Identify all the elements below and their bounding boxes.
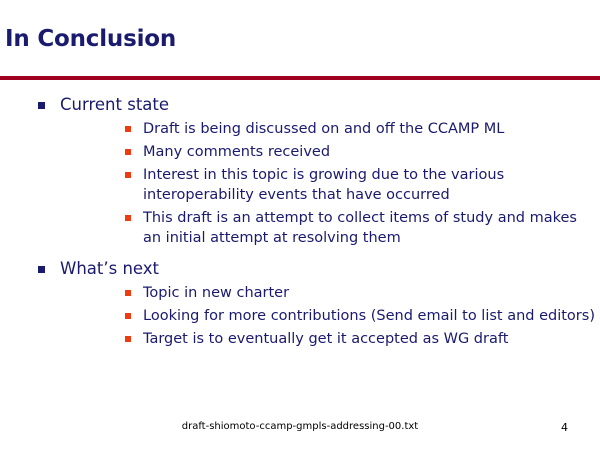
sub-bullet-label: Draft is being discussed on and off the …: [143, 119, 595, 139]
bullet-list-level1: Current state Draft is being discussed o…: [0, 94, 600, 349]
sub-bullet-label: This draft is an attempt to collect item…: [143, 208, 595, 248]
sub-bullet-label: Topic in new charter: [143, 283, 595, 303]
sub-bullet-looking-contributions: Looking for more contributions (Send ema…: [117, 306, 600, 326]
square-bullet-icon: [125, 126, 131, 132]
square-bullet-icon: [125, 313, 131, 319]
sub-bullet-label: Many comments received: [143, 142, 595, 162]
bullet-list-level2: Topic in new charter Looking for more co…: [117, 283, 600, 349]
sub-bullet-wrap: Draft is being discussed on and off the …: [117, 119, 600, 248]
sub-bullet-draft-discussed: Draft is being discussed on and off the …: [117, 119, 600, 139]
bullet-whats-next: What’s next Topic in new charter Looking…: [0, 258, 600, 349]
sub-bullet-label: Target is to eventually get it accepted …: [143, 329, 595, 349]
page-title: In Conclusion: [5, 25, 176, 53]
square-bullet-icon: [125, 336, 131, 342]
sub-bullet-many-comments: Many comments received: [117, 142, 600, 162]
square-bullet-icon: [38, 102, 45, 109]
square-bullet-icon: [125, 172, 131, 178]
bullet-label: What’s next: [60, 258, 600, 280]
footer-page-number: 4: [561, 421, 568, 434]
square-bullet-icon: [38, 266, 45, 273]
sub-bullet-draft-attempt: This draft is an attempt to collect item…: [117, 208, 600, 248]
sub-bullet-topic-new-charter: Topic in new charter: [117, 283, 600, 303]
bullet-list-level2: Draft is being discussed on and off the …: [117, 119, 600, 248]
title-divider-rule: [0, 76, 600, 80]
footer-document-name: draft-shiomoto-ccamp-gmpls-addressing-00…: [0, 421, 600, 432]
square-bullet-icon: [125, 290, 131, 296]
square-bullet-icon: [125, 215, 131, 221]
sub-bullet-label: Interest in this topic is growing due to…: [143, 165, 595, 205]
slide-body: Current state Draft is being discussed o…: [0, 94, 600, 352]
bullet-current-state: Current state Draft is being discussed o…: [0, 94, 600, 248]
presentation-slide: In Conclusion Current state Draft is bei…: [0, 0, 600, 450]
sub-bullet-label: Looking for more contributions (Send ema…: [143, 306, 595, 326]
sub-bullet-interest-growing: Interest in this topic is growing due to…: [117, 165, 600, 205]
sub-bullet-target-wg-draft: Target is to eventually get it accepted …: [117, 329, 600, 349]
slide-footer: draft-shiomoto-ccamp-gmpls-addressing-00…: [0, 421, 600, 441]
sub-bullet-wrap: Topic in new charter Looking for more co…: [117, 283, 600, 349]
bullet-label: Current state: [60, 94, 600, 116]
square-bullet-icon: [125, 149, 131, 155]
bullet-group-spacer: [0, 251, 600, 258]
